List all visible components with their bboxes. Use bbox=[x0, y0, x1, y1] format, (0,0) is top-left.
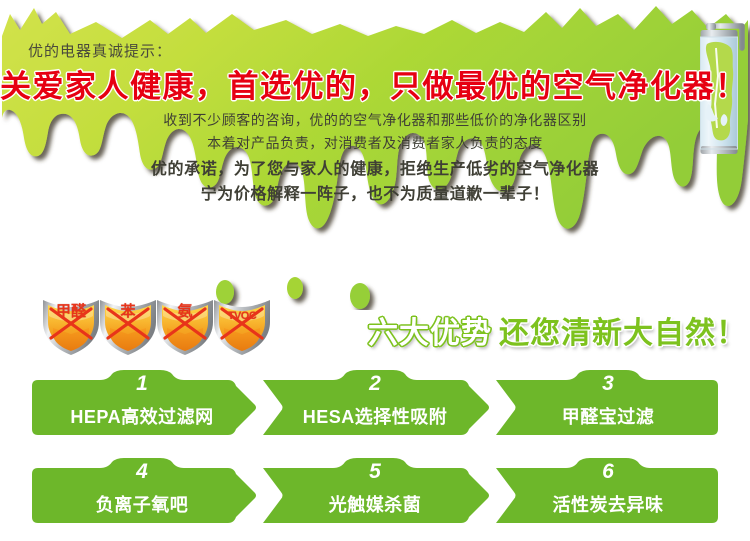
advantage-label: HEPA高效过滤网 bbox=[24, 403, 260, 429]
advantage-number: 5 bbox=[257, 461, 493, 482]
banner-part-a: 六大优势 bbox=[368, 308, 492, 352]
advantage-label: HESA选择性吸附 bbox=[257, 403, 493, 429]
body-line-1: 收到不少顾客的咨询，优的的空气净化器和那些低价的净化器区别 bbox=[0, 110, 750, 130]
advantage-card-3[interactable]: 3 甲醛宝过滤 bbox=[490, 370, 726, 445]
body-line-4: 宁为价格解释一阵子，也不为质量道歉一辈子！ bbox=[0, 180, 750, 204]
advantage-card-6[interactable]: 6 活性炭去异味 bbox=[490, 458, 726, 533]
advantage-number: 4 bbox=[24, 461, 260, 482]
advantage-label: 活性炭去异味 bbox=[490, 491, 726, 517]
advantage-label: 甲醛宝过滤 bbox=[490, 403, 726, 429]
splash-text-block: 优的电器真诚提示： 关爱家人健康，首选优的，只做最优的空气净化器！ 收到不少顾客… bbox=[0, 0, 750, 215]
advantage-label: 负离子氧吧 bbox=[24, 491, 260, 517]
advantages-row-2: 4 负离子氧吧 5 光触媒杀菌 6 活性炭去异味 bbox=[24, 458, 726, 533]
shield-blocked-icon-benzene: 苯 bbox=[97, 294, 159, 358]
body-line-2: 本着对产品负责，对消费者及消费者家人负责的态度 bbox=[0, 133, 750, 153]
advantage-card-2[interactable]: 2 HESA选择性吸附 bbox=[257, 370, 493, 445]
cross-out-icon bbox=[40, 294, 102, 358]
advantage-number: 6 bbox=[490, 461, 726, 482]
paint-splash-banner: 优的电器真诚提示： 关爱家人健康，首选优的，只做最优的空气净化器！ 收到不少顾客… bbox=[0, 0, 750, 310]
six-advantages-banner: 六大优势还您清新大自然！ bbox=[368, 308, 748, 348]
advantage-number: 3 bbox=[490, 373, 726, 394]
advantage-number: 2 bbox=[257, 373, 493, 394]
advantage-number: 1 bbox=[24, 373, 260, 394]
page-headline: 关爱家人健康，首选优的，只做最优的空气净化器！ bbox=[0, 61, 700, 106]
banner-part-b: 还您清新大自然！ bbox=[499, 308, 747, 352]
promo-label: 优的电器真诚提示： bbox=[28, 40, 172, 61]
advantages-grid: 1 HEPA高效过滤网 2 HESA选择性吸附 3 甲醛宝过滤 4 负离子氧吧 bbox=[0, 370, 750, 540]
advantage-card-1[interactable]: 1 HEPA高效过滤网 bbox=[24, 370, 260, 445]
shield-blocked-icon-tvoc: TVOC bbox=[211, 294, 273, 358]
body-line-3: 优的承诺，为了您与家人的健康，拒绝生产低劣的空气净化器 bbox=[0, 155, 750, 179]
pollutant-shield-row: 甲醛 苯 氨 bbox=[40, 294, 260, 360]
shield-blocked-icon-formaldehyde: 甲醛 bbox=[40, 294, 102, 358]
advantage-label: 光触媒杀菌 bbox=[257, 491, 493, 517]
cross-out-icon bbox=[154, 294, 216, 358]
advantage-card-4[interactable]: 4 负离子氧吧 bbox=[24, 458, 260, 533]
cross-out-icon bbox=[97, 294, 159, 358]
advantage-card-5[interactable]: 5 光触媒杀菌 bbox=[257, 458, 493, 533]
shield-blocked-icon-ammonia: 氨 bbox=[154, 294, 216, 358]
cross-out-icon bbox=[211, 294, 273, 358]
advantages-row-1: 1 HEPA高效过滤网 2 HESA选择性吸附 3 甲醛宝过滤 bbox=[24, 370, 726, 445]
